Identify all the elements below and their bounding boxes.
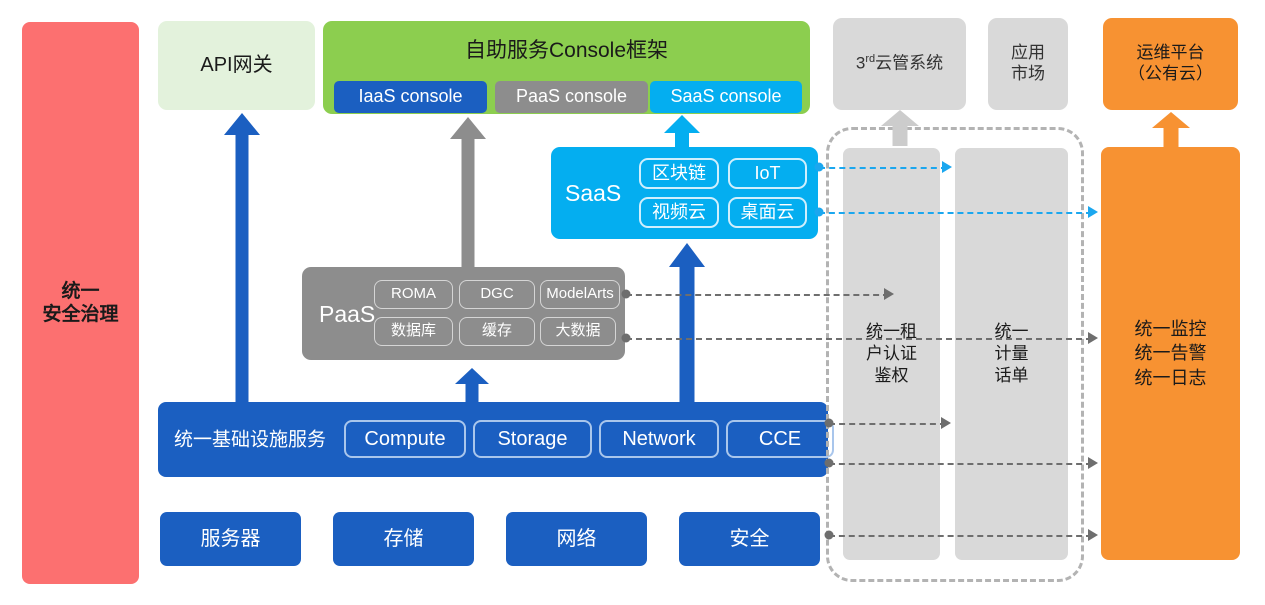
hardware-item-security[interactable]: 安全 — [679, 512, 820, 566]
unified-tenant-auth-column[interactable]: 统一租 户认证 鉴权 — [843, 148, 940, 560]
connector-line-iaas-to-auth — [829, 423, 946, 425]
ops-platform-public-cloud-label: 运维平台 （公有云） — [1128, 43, 1213, 84]
paas-item-bigdata-label: 大数据 — [555, 322, 600, 340]
saas-item-blockchain[interactable]: 区块链 — [639, 158, 719, 189]
paas-item-roma[interactable]: ROMA — [374, 280, 453, 309]
hardware-item-server[interactable]: 服务器 — [160, 512, 301, 566]
saas-item-blockchain-label: 区块链 — [652, 163, 706, 185]
paas-item-dgc[interactable]: DGC — [459, 280, 535, 309]
connector-arrowhead-saas-to-ops — [1088, 206, 1098, 218]
iaas-console-label: IaaS console — [358, 86, 462, 108]
connector-arrowhead-saas-to-auth — [942, 161, 952, 173]
app-market-box[interactable]: 应用 市场 — [988, 18, 1068, 110]
saas-item-desktop-cloud-label: 桌面云 — [741, 202, 795, 224]
connector-line-saas-to-auth — [819, 167, 947, 169]
unified-metering-billing-label: 统一 计量 话单 — [995, 321, 1029, 387]
connector-arrowhead-iaas-to-auth — [941, 417, 951, 429]
hardware-item-security-label: 安全 — [730, 527, 770, 551]
connector-line-paas-to-ops — [626, 338, 1092, 340]
connector-arrowhead-paas-to-ops — [1088, 332, 1098, 344]
arrow-shared-to-third-party — [881, 110, 919, 146]
hardware-item-storage[interactable]: 存储 — [333, 512, 474, 566]
third-party-prefix: 3 — [856, 54, 865, 73]
paas-item-modelarts-label: ModelArts — [546, 285, 614, 303]
saas-item-iot-label: IoT — [754, 163, 780, 185]
saas-console-chip[interactable]: SaaS console — [650, 81, 802, 113]
hardware-item-network-label: 网络 — [557, 527, 597, 551]
saas-console-label: SaaS console — [670, 86, 781, 108]
iaas-console-chip[interactable]: IaaS console — [334, 81, 487, 113]
connector-line-iaas-to-ops — [829, 463, 1092, 465]
connector-line-paas-to-auth — [626, 294, 889, 296]
unified-monitoring-label: 统一监控 统一告警 统一日志 — [1135, 317, 1207, 390]
paas-console-chip[interactable]: PaaS console — [495, 81, 648, 113]
hardware-item-server-label: 服务器 — [201, 527, 261, 551]
arrow-ops-column-to-ops-platform — [1152, 112, 1190, 148]
paas-layer-label: PaaS — [319, 299, 375, 327]
api-gateway-box[interactable]: API网关 — [158, 21, 315, 110]
hardware-item-storage-label: 存储 — [384, 527, 424, 551]
unified-infrastructure-bar[interactable]: 统一基础设施服务 Compute Storage Network CCE — [158, 402, 828, 477]
arrow-saas-to-saas-console — [664, 115, 700, 149]
paas-item-bigdata[interactable]: 大数据 — [540, 317, 616, 346]
third-party-cloud-mgmt-box[interactable]: 3rd云管系统 — [833, 18, 966, 110]
paas-item-database-label: 数据库 — [391, 322, 436, 340]
saas-layer[interactable]: SaaS 区块链 IoT 视频云 桌面云 — [551, 147, 818, 239]
iaas-item-storage-label: Storage — [497, 427, 567, 451]
third-party-ordinal: rd — [865, 53, 875, 65]
console-frame-title: 自助服务Console框架 — [323, 38, 810, 64]
self-service-console-frame[interactable]: 自助服务Console框架 IaaS console PaaS console … — [323, 21, 810, 114]
app-market-label: 应用 市场 — [1011, 43, 1045, 84]
unified-metering-billing-column[interactable]: 统一 计量 话单 — [955, 148, 1068, 560]
connector-arrowhead-iaas-to-ops — [1088, 457, 1098, 469]
paas-item-roma-label: ROMA — [391, 285, 436, 303]
arrow-iaas-to-api-gateway — [224, 113, 260, 403]
saas-item-iot[interactable]: IoT — [728, 158, 807, 189]
iaas-item-network-label: Network — [622, 427, 695, 451]
hardware-item-network[interactable]: 网络 — [506, 512, 647, 566]
paas-console-label: PaaS console — [516, 86, 627, 108]
api-gateway-label: API网关 — [200, 53, 272, 77]
arrow-paas-to-console — [450, 117, 486, 269]
ops-platform-public-cloud-box[interactable]: 运维平台 （公有云） — [1103, 18, 1238, 110]
connector-arrowhead-hardware-to-ops — [1088, 529, 1098, 541]
connector-arrowhead-paas-to-auth — [884, 288, 894, 300]
unified-tenant-auth-label: 统一租 户认证 鉴权 — [866, 321, 917, 387]
security-governance-label: 统一 安全治理 — [42, 280, 118, 326]
saas-item-desktop-cloud[interactable]: 桌面云 — [728, 197, 807, 228]
saas-item-video-cloud[interactable]: 视频云 — [639, 197, 719, 228]
unified-monitoring-column[interactable]: 统一监控 统一告警 统一日志 — [1101, 147, 1240, 560]
paas-item-cache[interactable]: 缓存 — [459, 317, 535, 346]
iaas-item-compute[interactable]: Compute — [344, 420, 466, 458]
iaas-item-network[interactable]: Network — [599, 420, 719, 458]
saas-item-video-cloud-label: 视频云 — [652, 202, 706, 224]
paas-item-cache-label: 缓存 — [482, 322, 512, 340]
unified-infrastructure-label: 统一基础设施服务 — [174, 428, 326, 451]
architecture-diagram: 统一 安全治理 API网关 自助服务Console框架 IaaS console… — [0, 0, 1265, 605]
iaas-item-compute-label: Compute — [364, 427, 445, 451]
security-governance-pillar[interactable]: 统一 安全治理 — [22, 22, 139, 584]
third-party-suffix: 云管系统 — [875, 54, 943, 73]
saas-layer-label: SaaS — [565, 179, 621, 207]
iaas-item-cce[interactable]: CCE — [726, 420, 834, 458]
connector-line-hardware-to-ops — [829, 535, 1092, 537]
connector-line-saas-to-ops — [819, 212, 1092, 214]
arrow-iaas-to-paas — [455, 368, 489, 404]
paas-item-database[interactable]: 数据库 — [374, 317, 453, 346]
iaas-item-cce-label: CCE — [759, 427, 801, 451]
paas-item-modelarts[interactable]: ModelArts — [540, 280, 620, 309]
third-party-cloud-mgmt-label: 3rd云管系统 — [856, 53, 943, 74]
iaas-item-storage[interactable]: Storage — [473, 420, 592, 458]
arrow-iaas-to-saas — [669, 243, 705, 404]
paas-item-dgc-label: DGC — [480, 285, 513, 303]
paas-layer[interactable]: PaaS ROMA DGC ModelArts 数据库 缓存 大数据 — [302, 267, 625, 360]
